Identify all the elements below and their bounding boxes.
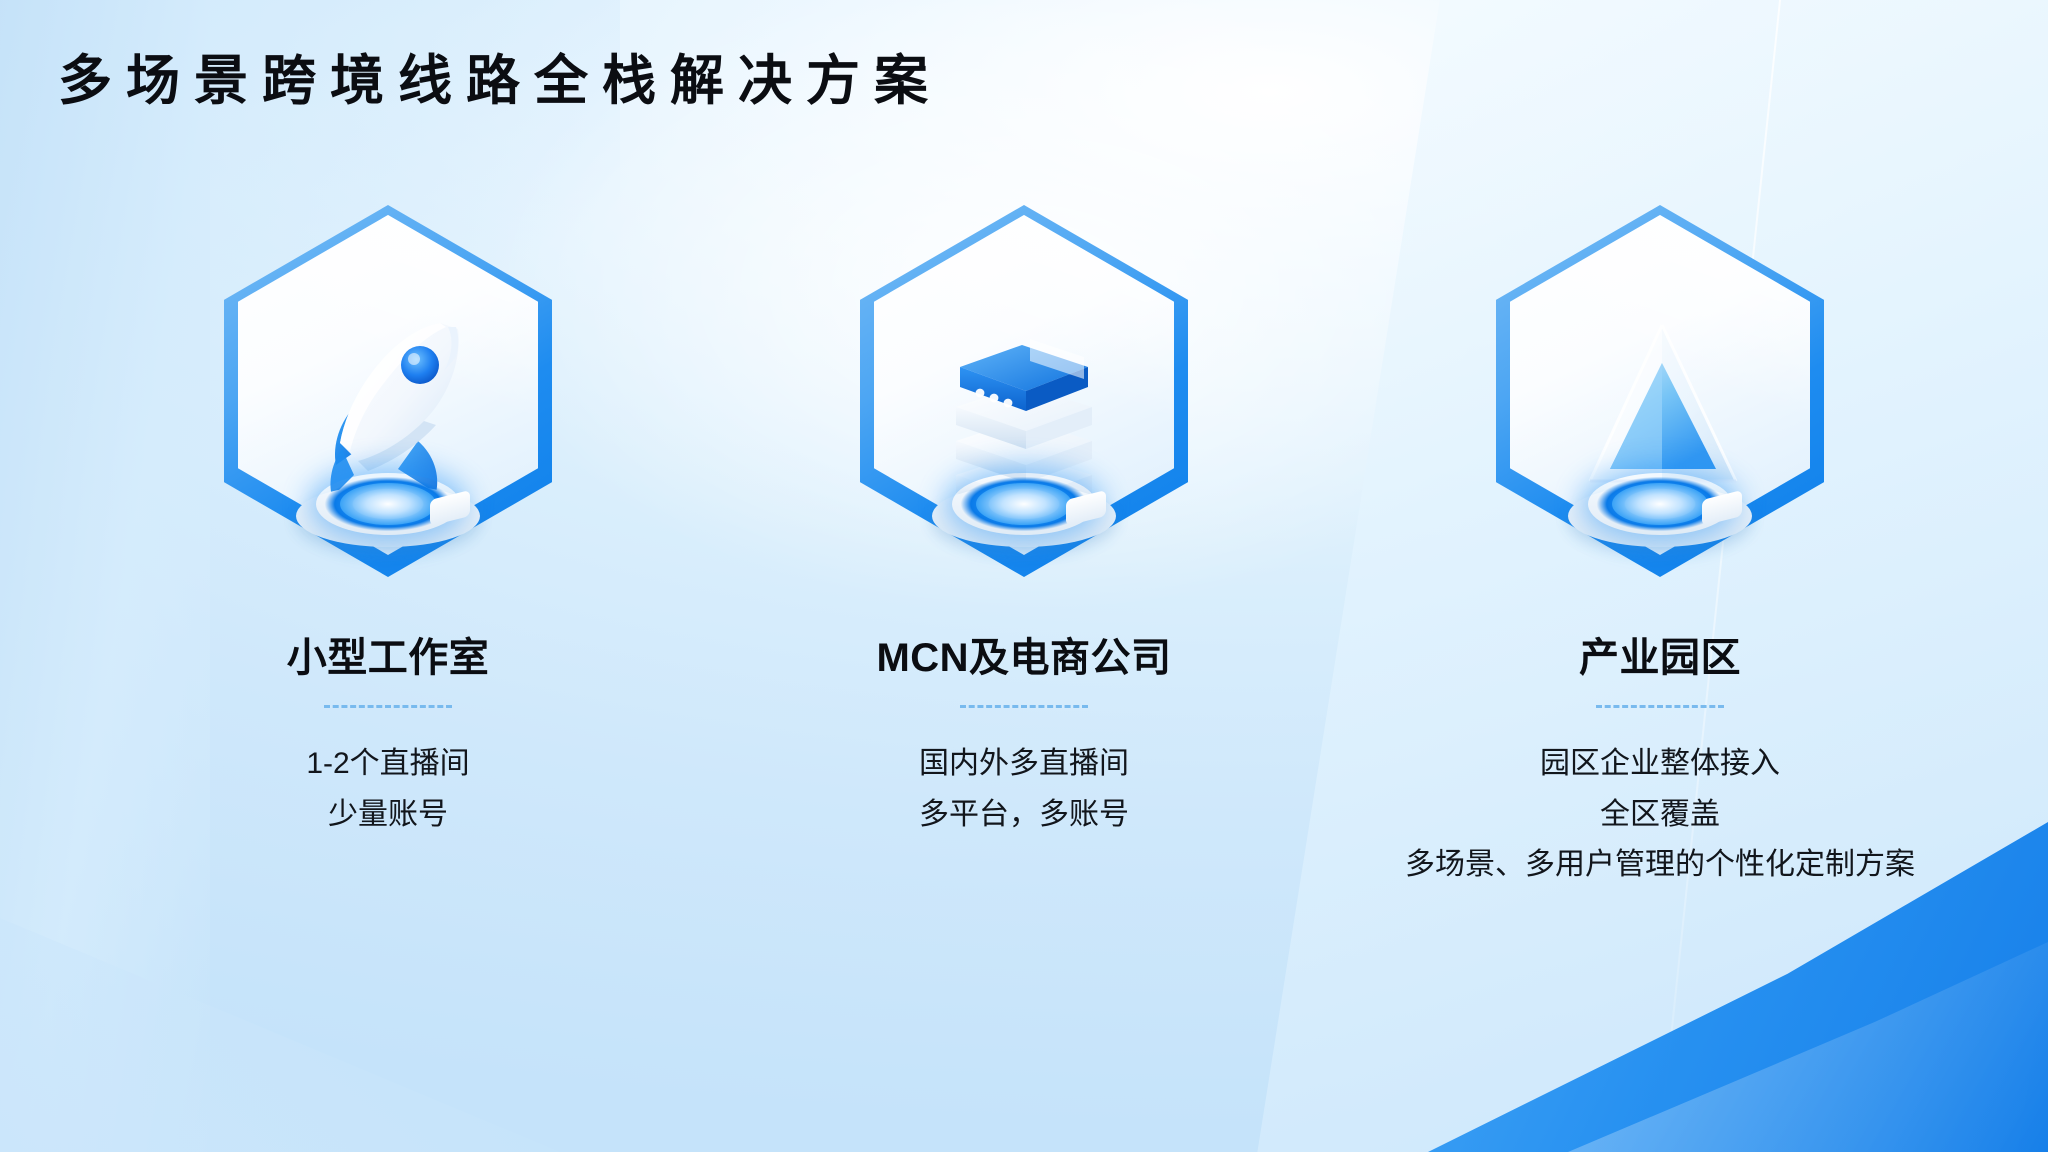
card-body-line: 多场景、多用户管理的个性化定制方案 [1405, 841, 1915, 890]
dashed-divider [960, 705, 1088, 708]
card-body-line: 少量账号 [306, 791, 469, 840]
hexagon-badge [203, 205, 573, 615]
card-title: MCN及电商公司 [876, 633, 1171, 683]
pedestal-ring [290, 467, 486, 551]
scenario-card-industrial-park[interactable]: 产业园区 园区企业整体接入 全区覆盖 多场景、多用户管理的个性化定制方案 [1380, 205, 1940, 892]
card-body-line: 全区覆盖 [1405, 791, 1915, 840]
scenario-card-row: 小型工作室 1-2个直播间 少量账号 [0, 205, 2048, 892]
card-title: 小型工作室 [287, 633, 490, 683]
card-body-line: 国内外多直播间 [919, 740, 1129, 789]
card-body-line: 多平台，多账号 [919, 791, 1129, 840]
pedestal-core [1612, 483, 1708, 525]
scenario-card-mcn-ecommerce[interactable]: MCN及电商公司 国内外多直播间 多平台，多账号 [744, 205, 1304, 841]
page-title: 多场景跨境线路全栈解决方案 [58, 52, 942, 111]
card-body: 国内外多直播间 多平台，多账号 [919, 738, 1129, 841]
card-title: 产业园区 [1579, 633, 1741, 683]
dashed-divider [1596, 705, 1724, 708]
pedestal-ring [926, 467, 1122, 551]
scenario-card-small-studio[interactable]: 小型工作室 1-2个直播间 少量账号 [108, 205, 668, 841]
pedestal-ring [1562, 467, 1758, 551]
hexagon-badge [1475, 205, 1845, 615]
card-body: 园区企业整体接入 全区覆盖 多场景、多用户管理的个性化定制方案 [1405, 738, 1915, 892]
dashed-divider [324, 705, 452, 708]
card-body: 1-2个直播间 少量账号 [306, 738, 469, 841]
card-body-line: 园区企业整体接入 [1405, 740, 1915, 789]
card-body-line: 1-2个直播间 [306, 740, 469, 789]
pedestal-core [976, 483, 1072, 525]
pedestal-core [340, 483, 436, 525]
hexagon-badge [839, 205, 1209, 615]
